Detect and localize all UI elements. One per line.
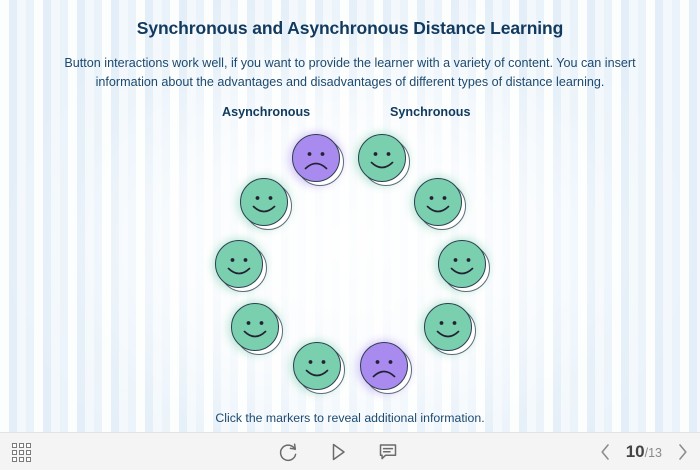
face-marker-happy-synchronous[interactable] bbox=[414, 178, 467, 231]
grid-cell bbox=[19, 443, 24, 448]
notes-icon[interactable] bbox=[377, 441, 399, 463]
face-features bbox=[414, 178, 462, 226]
face-marker-happy-asynchronous[interactable] bbox=[215, 240, 268, 293]
chevron-right-icon[interactable] bbox=[675, 442, 690, 462]
intro-paragraph: Button interactions work well, if you wa… bbox=[50, 54, 650, 92]
face-features bbox=[215, 240, 263, 288]
grid-cell bbox=[26, 457, 31, 462]
grid-cell bbox=[12, 450, 17, 455]
category-label-asynchronous: Asynchronous bbox=[222, 105, 310, 119]
page-title: Synchronous and Asynchronous Distance Le… bbox=[0, 18, 700, 39]
player-toolbar: 10 /13 bbox=[0, 432, 700, 470]
play-icon[interactable] bbox=[327, 441, 349, 463]
face-features bbox=[240, 178, 288, 226]
face-marker-happy-asynchronous[interactable] bbox=[240, 178, 293, 231]
face-marker-happy-synchronous[interactable] bbox=[358, 134, 411, 187]
face-features bbox=[231, 303, 279, 351]
face-marker-happy-synchronous[interactable] bbox=[424, 303, 477, 356]
face-features bbox=[438, 240, 486, 288]
grid-cell bbox=[12, 457, 17, 462]
replay-icon[interactable] bbox=[277, 441, 299, 463]
face-marker-happy-asynchronous[interactable] bbox=[231, 303, 284, 356]
face-features bbox=[292, 134, 340, 182]
slide-stage: Synchronous and Asynchronous Distance Le… bbox=[0, 0, 700, 470]
face-features bbox=[424, 303, 472, 351]
face-marker-sad-asynchronous[interactable] bbox=[292, 134, 345, 187]
page-navigation: 10 /13 bbox=[598, 433, 690, 470]
chevron-left-icon[interactable] bbox=[598, 442, 613, 462]
face-marker-sad-synchronous[interactable] bbox=[360, 342, 413, 395]
instruction-hint: Click the markers to reveal additional i… bbox=[0, 411, 700, 425]
grid-menu-icon[interactable] bbox=[12, 443, 31, 462]
face-marker-happy-asynchronous[interactable] bbox=[293, 342, 346, 395]
playback-controls bbox=[277, 433, 399, 470]
grid-cell bbox=[19, 450, 24, 455]
face-features bbox=[293, 342, 341, 390]
face-features bbox=[358, 134, 406, 182]
category-label-synchronous: Synchronous bbox=[390, 105, 470, 119]
grid-cell bbox=[12, 443, 17, 448]
face-features bbox=[360, 342, 408, 390]
page-counter: 10 /13 bbox=[626, 442, 662, 462]
grid-cell bbox=[26, 443, 31, 448]
face-marker-happy-synchronous[interactable] bbox=[438, 240, 491, 293]
total-page-count: /13 bbox=[645, 446, 662, 460]
grid-cell bbox=[19, 457, 24, 462]
grid-cell bbox=[26, 450, 31, 455]
current-page-number: 10 bbox=[626, 442, 645, 462]
